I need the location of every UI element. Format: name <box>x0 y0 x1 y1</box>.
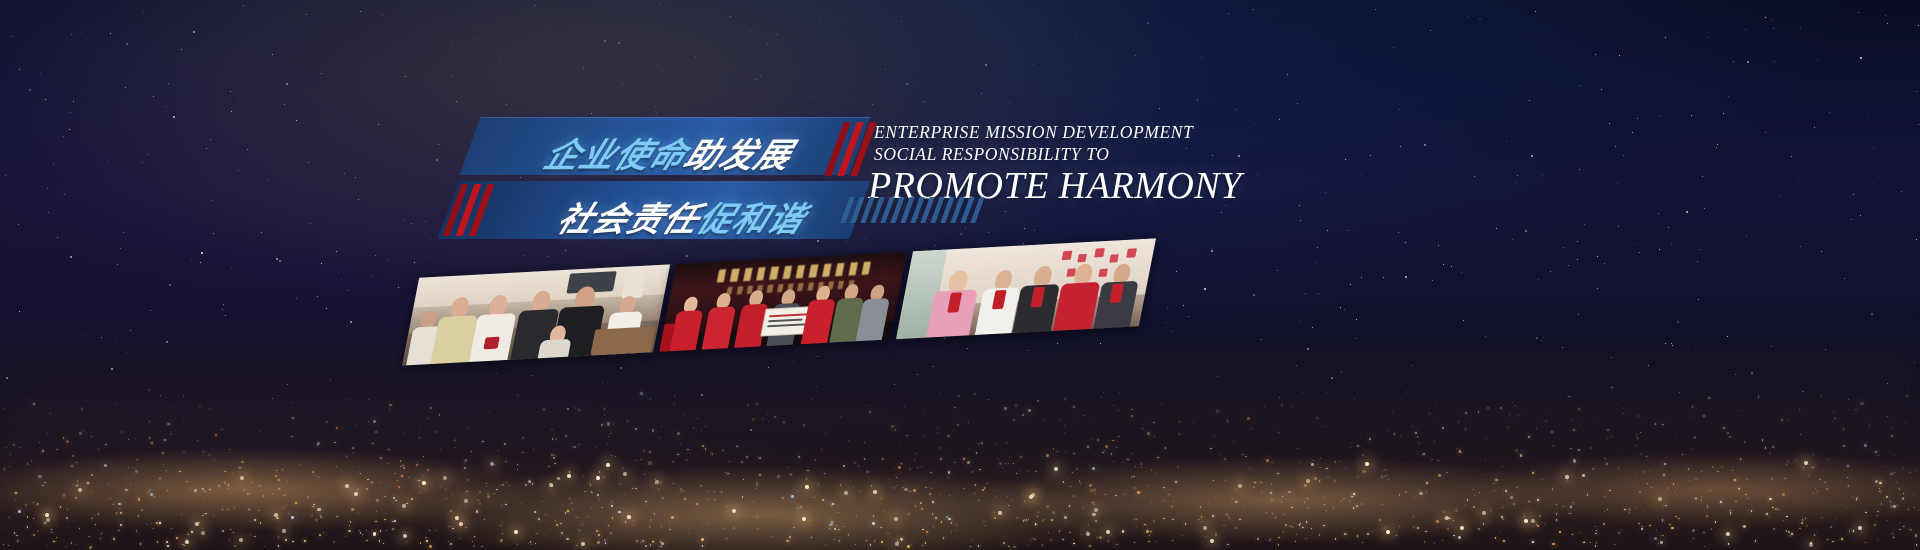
headline-cn-line2: 社会责任促和谐 <box>551 192 814 241</box>
stage-banner-text <box>717 262 871 283</box>
headline-en-line2: SOCIAL RESPONSIBILITY TO <box>874 144 1109 165</box>
headline-cn-line2-blue: 促和谐 <box>692 201 811 239</box>
photo-donation-ceremony <box>659 252 907 352</box>
headline-cn-line1-blue: 企业使命 <box>539 137 693 175</box>
headline-cn-line1: 企业使命助发展 <box>538 128 801 177</box>
photo-community-visit <box>402 264 670 365</box>
city-lights-background <box>0 340 1920 550</box>
headline-en-line1: ENTERPRISE MISSION DEVELOPMENT <box>874 122 1193 143</box>
photo-volunteer-group <box>896 238 1156 339</box>
hero-banner: 企业使命助发展 社会责任促和谐 ENTERPRISE MISSION DEVEL… <box>0 0 1920 550</box>
headline-cn-line1-white: 助发展 <box>679 137 798 175</box>
headline-cn-line2-white: 社会责任 <box>552 201 706 239</box>
blue-hatch-decoration <box>840 197 984 223</box>
